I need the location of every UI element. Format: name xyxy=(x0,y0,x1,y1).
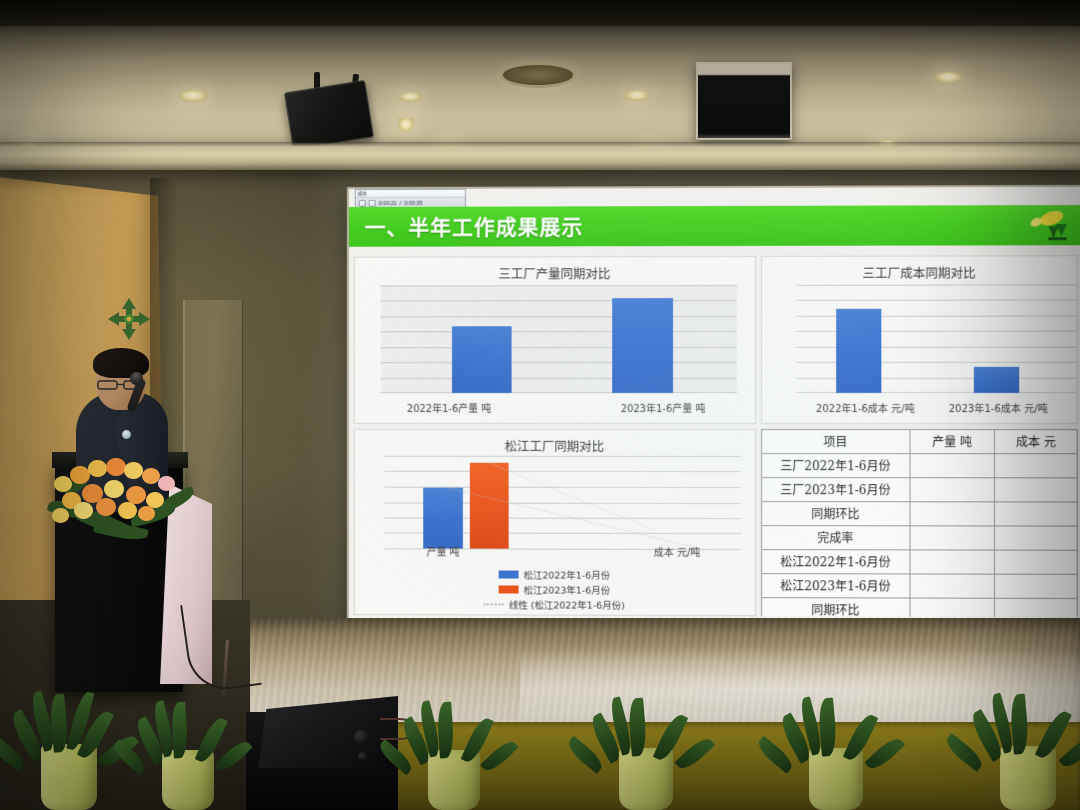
potted-plant xyxy=(588,654,704,810)
table-cell-cost xyxy=(995,598,1077,617)
play-button[interactable] xyxy=(359,200,366,207)
ceiling-cove-light-band xyxy=(0,142,1080,170)
legend-swatch-dotted-line xyxy=(484,603,504,605)
legend-swatch-orange xyxy=(499,585,519,593)
table-row: 松江2022年1-6月份 xyxy=(762,550,1078,575)
table-row: 同期环比 xyxy=(762,502,1078,527)
table-row: 三厂2023年1-6月份 xyxy=(762,478,1078,502)
legend-label-2022: 松江2022年1-6月份 xyxy=(523,568,610,582)
table-cell-production xyxy=(910,598,995,617)
chart-cost-title: 三工厂成本同期对比 xyxy=(762,256,1077,282)
chart-production-xlabel-0: 2022年1-6产量 吨 xyxy=(365,400,534,415)
legend-item-2022: 松江2022年1-6月份 xyxy=(499,568,611,582)
table-row: 三厂2022年1-6月份 xyxy=(762,454,1078,478)
legend-item-2023: 松江2023年1-6月份 xyxy=(499,582,611,596)
chart-songjiang-xlabel-0: 产量 吨 xyxy=(389,543,498,558)
chart-cost-xlabel-1: 2023年1-6成本 元/吨 xyxy=(949,400,1078,415)
potted-plant xyxy=(132,658,244,810)
legend-label-trend: 线性 (松江2022年1-6月份) xyxy=(509,597,625,611)
speaker-port xyxy=(358,752,367,761)
flower-arrangement xyxy=(46,436,206,546)
table-header-row: 项目 产量 吨 成本 元 xyxy=(762,430,1078,454)
company-leaf-logo xyxy=(1018,208,1072,242)
slide-canvas: 媒体 0:00:21 / 0:00:35 一、半年工作成果展示 xyxy=(349,187,1080,622)
chart-songjiang[interactable]: 松江工厂同期对比 xyxy=(354,429,756,616)
bar-songjiang-2022-production xyxy=(424,487,463,548)
summary-table: 项目 产量 吨 成本 元 三厂2022年1-6月份 xyxy=(761,429,1078,617)
table-cell-production xyxy=(910,526,995,550)
legend-swatch-blue xyxy=(499,571,519,579)
projection-screen[interactable]: 媒体 0:00:21 / 0:00:35 一、半年工作成果展示 xyxy=(347,185,1080,624)
ceiling-sprinkler xyxy=(398,118,414,132)
summary-table-panel[interactable]: 项目 产量 吨 成本 元 三厂2022年1-6月份 xyxy=(761,429,1078,617)
ceiling-downlight xyxy=(624,90,650,101)
table-cell-production xyxy=(910,454,995,478)
table-header-cost: 成本 元 xyxy=(995,430,1077,454)
bar-cost-2022 xyxy=(836,309,882,393)
chart-songjiang-legend: 松江2022年1-6月份 松江2023年1-6月份 线性 (松江2022年1-6… xyxy=(355,567,755,612)
chart-songjiang-title: 松江工厂同期对比 xyxy=(355,430,755,455)
ceiling-vent-strip xyxy=(0,0,1080,26)
ceiling-flat-panel-display xyxy=(696,62,792,140)
potted-plant xyxy=(968,650,1080,810)
chart-songjiang-xlabel-1: 成本 元/吨 xyxy=(617,544,737,559)
legend-label-2023: 松江2023年1-6月份 xyxy=(523,583,610,597)
media-elapsed-time: 0:00:21 xyxy=(379,200,397,206)
chart-production-plot xyxy=(381,285,737,393)
table-cell-cost xyxy=(995,574,1077,598)
potted-plant xyxy=(398,658,510,810)
table-row: 完成率 xyxy=(762,526,1078,551)
table-cell-item: 同期环比 xyxy=(762,502,910,526)
slide-title: 一、半年工作成果展示 xyxy=(365,211,584,241)
stop-button[interactable] xyxy=(369,200,376,207)
table-cell-cost xyxy=(995,526,1077,550)
slide-content: 三工厂产量同期对比 2022年1-6产量 吨 2023 xyxy=(349,249,1080,622)
chart-songjiang-plot xyxy=(385,456,741,549)
ceiling-recessed-ring-light xyxy=(500,62,576,88)
table-cell-cost xyxy=(995,478,1077,502)
ceiling-downlight xyxy=(178,90,208,102)
table-cell-item: 松江2023年1-6月份 xyxy=(762,574,910,598)
table-row: 松江2023年1-6月份 xyxy=(762,574,1078,599)
table-cell-cost xyxy=(995,502,1077,526)
media-time-separator: / xyxy=(400,200,402,206)
chart-production[interactable]: 三工厂产量同期对比 2022年1-6产量 吨 2023 xyxy=(354,256,756,424)
table-cell-item: 松江2022年1-6月份 xyxy=(762,550,910,574)
table-cell-item: 三厂2023年1-6月份 xyxy=(762,478,910,502)
ceiling-downlight xyxy=(934,72,962,83)
media-player-controls[interactable]: 0:00:21 / 0:00:35 xyxy=(356,198,465,207)
table-cell-production xyxy=(910,550,995,574)
chart-production-title: 三工厂产量同期对比 xyxy=(355,257,755,283)
chart-cost[interactable]: 三工厂成本同期对比 2022年1-6成本 元/吨 20 xyxy=(761,255,1078,424)
slide-banner: 一、半年工作成果展示 xyxy=(349,205,1080,247)
table-cell-production xyxy=(910,478,995,502)
bar-production-2022 xyxy=(452,326,512,393)
four-direction-arrows-logo xyxy=(106,296,152,342)
table-cell-item: 同期环比 xyxy=(762,598,910,617)
ceiling-downlight xyxy=(398,92,422,102)
media-total-time: 0:00:35 xyxy=(404,200,422,206)
bar-cost-2023 xyxy=(974,367,1020,393)
table-cell-item: 完成率 xyxy=(762,526,910,550)
potted-plant xyxy=(778,654,894,810)
conference-hall-scene: 媒体 0:00:21 / 0:00:35 一、半年工作成果展示 xyxy=(0,0,1080,810)
table-header-item: 项目 xyxy=(762,430,910,454)
chart-cost-xlabel-0: 2022年1-6成本 元/吨 xyxy=(776,400,955,415)
chart-production-xlabel-1: 2023年1-6产量 吨 xyxy=(573,400,753,415)
table-cell-production xyxy=(910,502,995,526)
table-cell-cost xyxy=(995,550,1077,574)
chart-cost-plot xyxy=(796,284,1078,393)
legend-item-trend: 线性 (松江2022年1-6月份) xyxy=(484,597,625,611)
bar-production-2023 xyxy=(612,298,673,393)
table-cell-item: 三厂2022年1-6月份 xyxy=(762,454,910,478)
speaker-port xyxy=(354,730,368,744)
table-header-production: 产量 吨 xyxy=(910,430,995,454)
potted-plant xyxy=(10,650,128,810)
bar-songjiang-2023-production xyxy=(470,462,509,548)
table-cell-cost xyxy=(995,454,1077,478)
table-cell-production xyxy=(910,574,995,598)
table-row: 同期环比 xyxy=(762,598,1078,617)
